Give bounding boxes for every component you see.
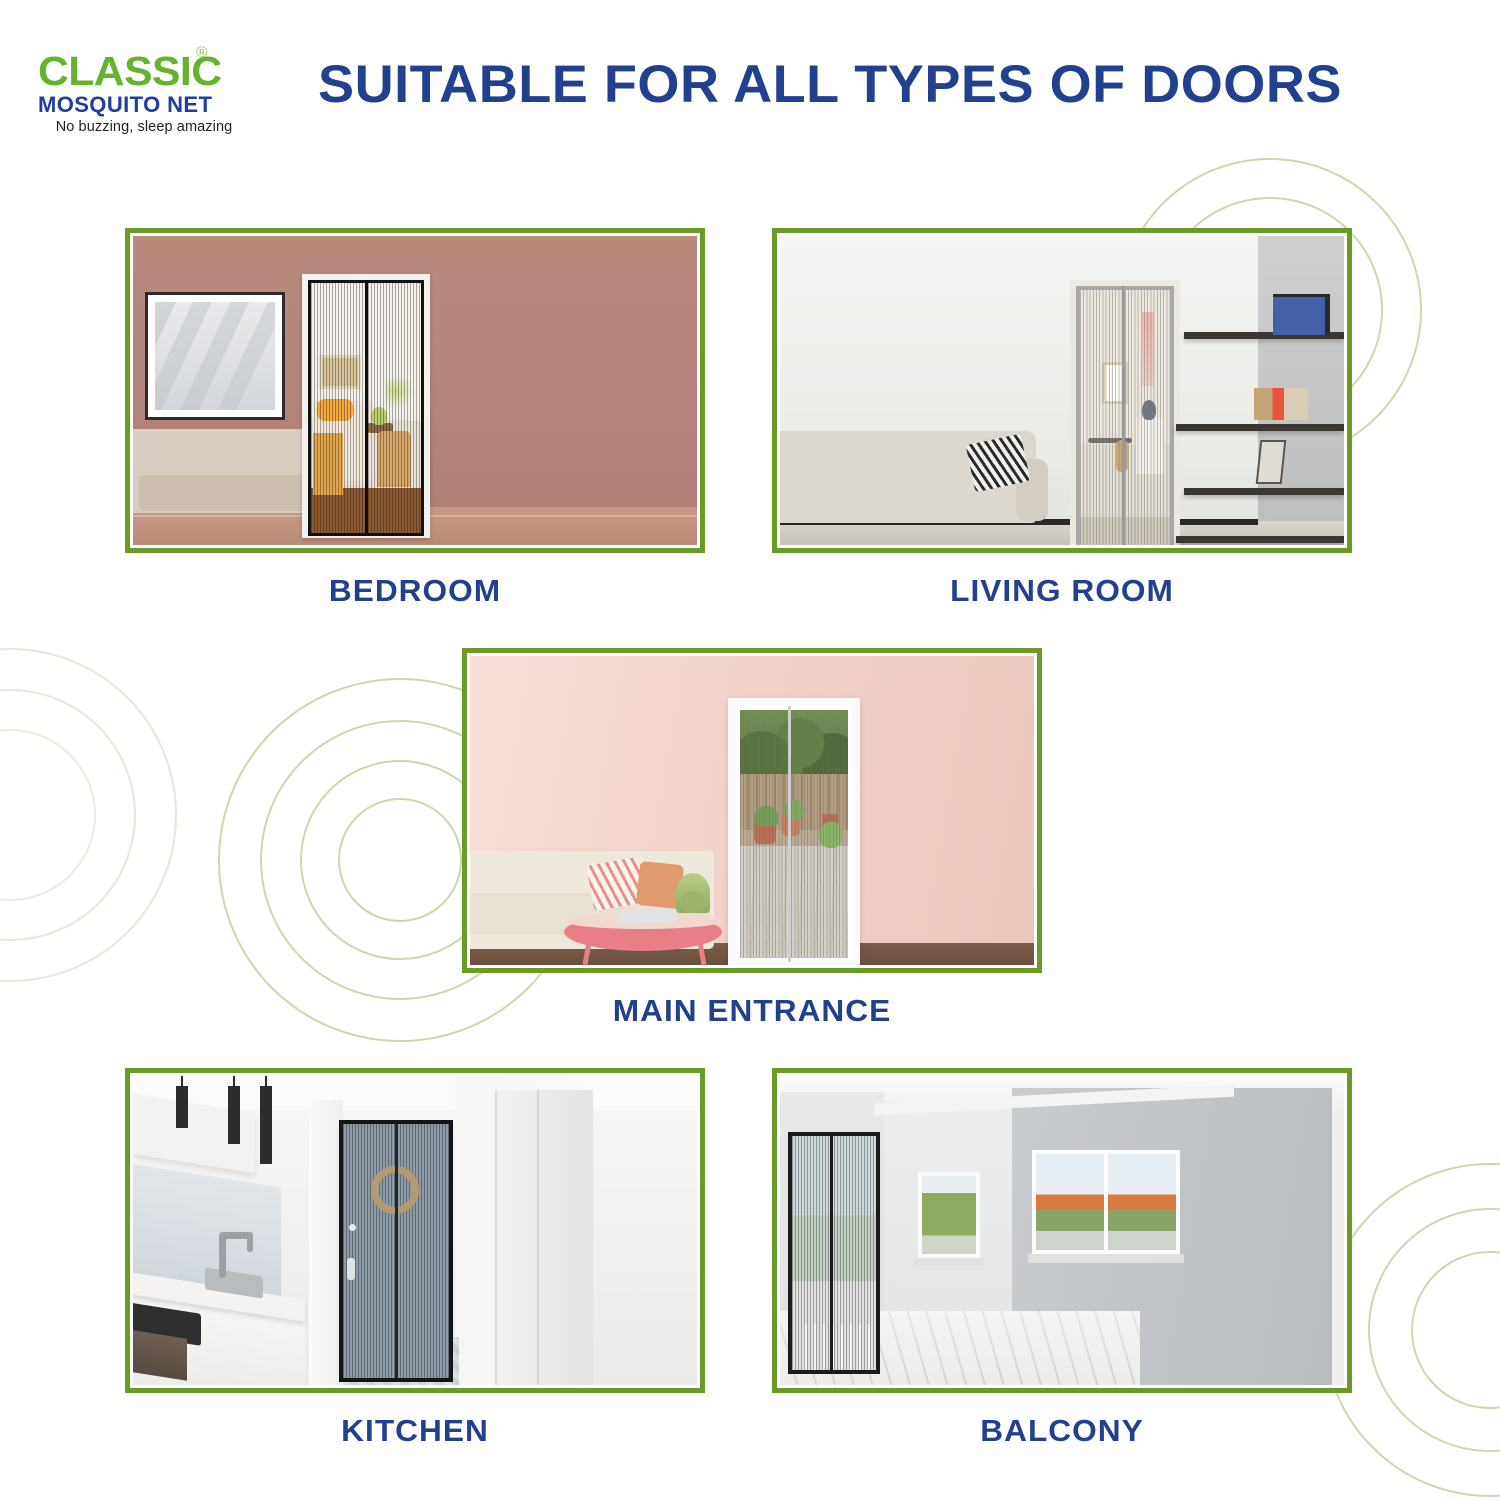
wall-shelf-3 xyxy=(1184,488,1344,495)
side-door xyxy=(309,1100,343,1385)
shelf-books xyxy=(1254,388,1308,420)
shelf-blue-panel xyxy=(1273,294,1330,335)
photo-bedroom xyxy=(133,236,697,545)
card-kitchen: KITCHEN xyxy=(125,1068,705,1449)
page-title: SUITABLE FOR ALL TYPES OF DOORS xyxy=(238,54,1421,115)
photo-living-room xyxy=(780,236,1344,545)
ring-middle xyxy=(0,689,136,941)
photo-kitchen xyxy=(133,1076,697,1385)
photo-main-entrance xyxy=(470,656,1034,965)
infographic-page: CLASSIC® MOSQUITO NET No buzzing, sleep … xyxy=(0,0,1500,1500)
picture-mat xyxy=(148,295,282,417)
photo-frame-main-entrance xyxy=(462,648,1042,973)
ring-middle xyxy=(1368,1208,1500,1452)
mesh-screen-overlay xyxy=(1080,290,1170,545)
mosquito-net-door xyxy=(792,1136,876,1370)
wall-picture-frame xyxy=(145,292,285,420)
sofa-seat xyxy=(139,475,315,511)
shelf-picture xyxy=(1256,440,1287,484)
card-caption-kitchen: KITCHEN xyxy=(119,1413,711,1449)
window-1 xyxy=(918,1172,980,1258)
photo-frame-living-room xyxy=(772,228,1352,553)
picture-artwork xyxy=(155,302,275,410)
pendant-light-3 xyxy=(260,1086,272,1164)
card-caption-balcony: BALCONY xyxy=(766,1413,1358,1449)
card-caption-main-entrance: MAIN ENTRANCE xyxy=(456,993,1048,1029)
ring-inner xyxy=(1411,1251,1500,1409)
pendant-light-2 xyxy=(228,1086,240,1144)
brand-tagline: No buzzing, sleep amazing xyxy=(38,119,250,135)
wall-shelf-2 xyxy=(1176,424,1344,431)
door-knob xyxy=(349,1224,356,1231)
mesh-center-seam xyxy=(1122,286,1125,545)
ring-outer xyxy=(0,648,177,982)
brand-name-primary-text: CLASSIC xyxy=(38,48,222,94)
door-handle xyxy=(347,1258,355,1280)
doorway-view xyxy=(1080,290,1170,545)
ceiling xyxy=(133,1076,697,1110)
wall-shelf-4 xyxy=(1176,536,1344,543)
mesh-center-seam xyxy=(365,280,368,536)
mesh-center-seam xyxy=(395,1124,398,1378)
photo-balcony xyxy=(780,1076,1344,1385)
mesh-screen-overlay xyxy=(740,710,848,958)
pendant-wire-3 xyxy=(265,1076,267,1086)
refrigerator xyxy=(495,1090,593,1385)
photo-frame-balcony xyxy=(772,1068,1352,1393)
ring-inner xyxy=(0,729,96,901)
mesh-center-seam xyxy=(788,706,791,962)
card-bedroom: BEDROOM xyxy=(125,228,705,609)
faucet-body xyxy=(219,1234,226,1278)
window-2 xyxy=(1032,1150,1180,1254)
window-1-glass xyxy=(922,1176,976,1254)
registered-trademark-icon: ® xyxy=(196,46,207,60)
brand-name-secondary: MOSQUITO NET xyxy=(38,93,268,116)
doorway-view xyxy=(740,710,848,958)
potted-plant xyxy=(676,873,710,913)
card-caption-bedroom: BEDROOM xyxy=(119,573,711,609)
card-living-room: LIVING ROOM xyxy=(772,228,1352,609)
pendant-light-1 xyxy=(176,1086,188,1128)
window-sill-2 xyxy=(1028,1254,1184,1263)
card-caption-living-room: LIVING ROOM xyxy=(766,573,1358,609)
brand-logo: CLASSIC® MOSQUITO NET No buzzing, sleep … xyxy=(38,52,268,135)
mesh-center-seam xyxy=(830,1136,833,1370)
stone-panel xyxy=(133,1329,187,1381)
card-balcony: BALCONY xyxy=(772,1068,1352,1449)
window-2-glass-left xyxy=(1036,1154,1104,1250)
photo-frame-kitchen xyxy=(125,1068,705,1393)
mesh-screen-overlay xyxy=(792,1136,876,1370)
window-sill-1 xyxy=(914,1258,984,1266)
card-main-entrance: MAIN ENTRANCE xyxy=(462,648,1042,1029)
refrigerator-seam xyxy=(537,1090,539,1385)
pendant-wire-1 xyxy=(181,1076,183,1086)
window-2-glass-right xyxy=(1108,1154,1176,1250)
ring-core xyxy=(338,798,462,922)
pendant-wire-2 xyxy=(233,1076,235,1086)
photo-frame-bedroom xyxy=(125,228,705,553)
faucet-spout xyxy=(247,1232,253,1252)
